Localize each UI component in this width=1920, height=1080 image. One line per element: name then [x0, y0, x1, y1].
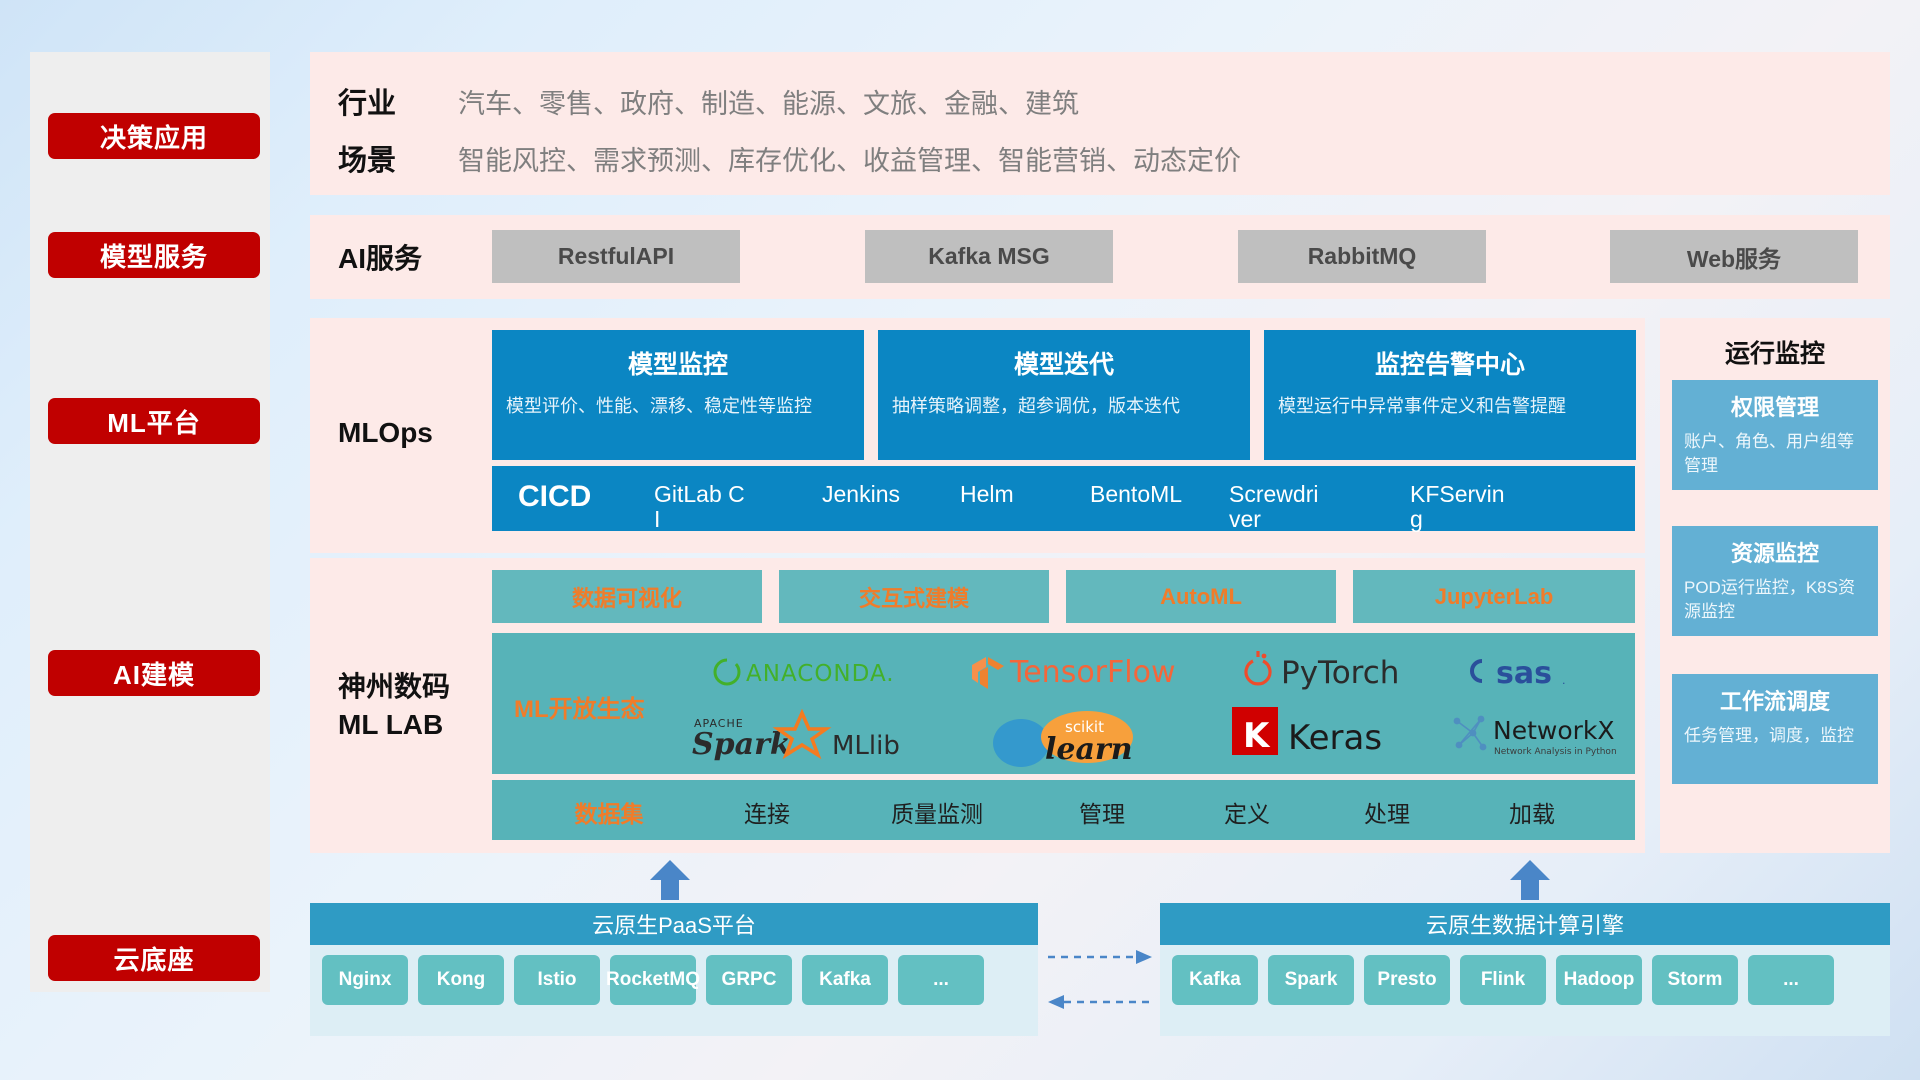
arrow-right-dashed: [1048, 950, 1152, 964]
compute-chip-presto[interactable]: Presto: [1364, 955, 1450, 1005]
ai-modeling-band: 神州数码 ML LAB 数据可视化 交互式建模 AutoML JupyterLa…: [310, 558, 1645, 853]
svg-text:K: K: [1243, 716, 1271, 756]
card-desc: 模型评价、性能、漂移、稳定性等监控: [506, 393, 850, 419]
mllab-label-line2: ML LAB: [338, 708, 443, 742]
cicd-item-kfserving[interactable]: KFServing: [1410, 482, 1505, 533]
svg-text:sas: sas: [1496, 656, 1552, 691]
scenario-values: 智能风控、需求预测、库存优化、收益管理、智能营销、动态定价: [458, 139, 1241, 178]
cicd-item-helm[interactable]: Helm: [960, 482, 1055, 507]
svg-text:Keras: Keras: [1288, 718, 1382, 758]
rail-item-ai-modeling[interactable]: AI建模: [48, 650, 260, 696]
card-desc: POD运行监控，K8S资源监控: [1684, 576, 1866, 624]
mlops-label: MLOps: [338, 413, 433, 453]
tensorflow-logo: TensorFlow: [962, 649, 1222, 698]
monitor-card-resource[interactable]: 资源监控 POD运行监控，K8S资源监控: [1672, 526, 1878, 636]
compute-chip-hadoop[interactable]: Hadoop: [1556, 955, 1642, 1005]
compute-chip-storm[interactable]: Storm: [1652, 955, 1738, 1005]
svg-text:learn: learn: [1045, 732, 1133, 767]
mlops-card-model-monitor[interactable]: 模型监控 模型评价、性能、漂移、稳定性等监控: [492, 330, 864, 460]
tab-automl[interactable]: AutoML: [1066, 570, 1336, 623]
paas-chip-rocketmq[interactable]: RocketMQ: [610, 955, 696, 1005]
mlops-card-model-iteration[interactable]: 模型迭代 抽样策略调整，超参调优，版本迭代: [878, 330, 1250, 460]
svg-text:.: .: [1562, 674, 1566, 687]
paas-chip-kafka[interactable]: Kafka: [802, 955, 888, 1005]
card-title: 资源监控: [1672, 536, 1878, 568]
runtime-monitor-title: 运行监控: [1660, 334, 1890, 370]
data-item-load[interactable]: 加载: [1467, 795, 1597, 829]
tab-interactive-modeling[interactable]: 交互式建模: [779, 570, 1049, 623]
cicd-bar: CICD GitLab CI Jenkins Helm BentoML Scre…: [492, 466, 1635, 531]
rail-item-decision-app[interactable]: 决策应用: [48, 113, 260, 159]
ml-ecosystem-box: ML开放生态 ANACONDA. TensorFlow: [492, 633, 1635, 774]
spark-mllib-logo: APACHE Spark MLlib: [692, 709, 942, 770]
monitor-card-permission[interactable]: 权限管理 账户、角色、用户组等管理: [1672, 380, 1878, 490]
svg-text:NetworkX: NetworkX: [1493, 716, 1615, 745]
card-desc: 账户、角色、用户组等管理: [1684, 430, 1866, 478]
svg-text:MLlib: MLlib: [832, 731, 900, 761]
compute-engine-box: 云原生数据计算引擎 Kafka Spark Presto Flink Hadoo…: [1160, 903, 1890, 1036]
anaconda-logo: ANACONDA.: [710, 655, 920, 694]
ai-service-band: AI服务 RestfulAPI Kafka MSG RabbitMQ Web服务: [310, 215, 1890, 299]
mlops-card-alert-center[interactable]: 监控告警中心 模型运行中异常事件定义和告警提醒: [1264, 330, 1636, 460]
industry-scenario-band: 行业 汽车、零售、政府、制造、能源、文旅、金融、建筑 场景 智能风控、需求预测、…: [310, 52, 1890, 195]
data-item-connect[interactable]: 连接: [702, 795, 832, 829]
data-item-dataset[interactable]: 数据集: [544, 795, 674, 829]
compute-chip-kafka[interactable]: Kafka: [1172, 955, 1258, 1005]
cicd-title: CICD: [518, 480, 591, 514]
data-item-define[interactable]: 定义: [1182, 795, 1312, 829]
paas-chip-grpc[interactable]: GRPC: [706, 955, 792, 1005]
svg-text:Spark: Spark: [692, 727, 791, 762]
pytorch-logo: PyTorch: [1237, 649, 1452, 698]
tab-jupyterlab[interactable]: JupyterLab: [1353, 570, 1635, 623]
mlops-band: MLOps 模型监控 模型评价、性能、漂移、稳定性等监控 模型迭代 抽样策略调整…: [310, 318, 1645, 553]
compute-chip-flink[interactable]: Flink: [1460, 955, 1546, 1005]
sas-logo: sas .: [1462, 651, 1622, 696]
mllab-label-line1: 神州数码: [338, 668, 450, 702]
data-item-quality[interactable]: 质量监测: [862, 795, 1012, 829]
ai-chip-restfulapi[interactable]: RestfulAPI: [492, 230, 740, 283]
card-title: 监控告警中心: [1264, 345, 1636, 381]
tab-data-visualization[interactable]: 数据可视化: [492, 570, 762, 623]
arrow-left-dashed: [1048, 995, 1152, 1009]
arrow-up-paas: [648, 860, 692, 900]
paas-chip-nginx[interactable]: Nginx: [322, 955, 408, 1005]
paas-chip-istio[interactable]: Istio: [514, 955, 600, 1005]
ml-ecosystem-label: ML开放生态: [514, 689, 645, 724]
svg-text:ANACONDA.: ANACONDA.: [746, 661, 895, 687]
paas-header: 云原生PaaS平台: [310, 903, 1038, 945]
card-title: 权限管理: [1672, 390, 1878, 422]
compute-header: 云原生数据计算引擎: [1160, 903, 1890, 945]
card-desc: 任务管理，调度，监控: [1684, 724, 1866, 748]
rail-item-model-service[interactable]: 模型服务: [48, 232, 260, 278]
industry-row: 行业 汽车、零售、政府、制造、能源、文旅、金融、建筑: [338, 80, 1079, 122]
svg-text:TensorFlow: TensorFlow: [1009, 655, 1176, 690]
industry-label: 行业: [338, 80, 458, 122]
rail-item-cloud-base[interactable]: 云底座: [48, 935, 260, 981]
cicd-item-bentoml[interactable]: BentoML: [1090, 482, 1185, 507]
compute-chip-spark[interactable]: Spark: [1268, 955, 1354, 1005]
card-title: 模型监控: [492, 345, 864, 381]
dataset-bar: 数据集 连接 质量监测 管理 定义 处理 加载: [492, 780, 1635, 840]
card-desc: 模型运行中异常事件定义和告警提醒: [1278, 393, 1622, 419]
networkx-logo: NetworkX Network Analysis in Python: [1447, 711, 1637, 770]
paas-platform-box: 云原生PaaS平台 Nginx Kong Istio RocketMQ GRPC…: [310, 903, 1038, 1036]
ai-chip-rabbitmq[interactable]: RabbitMQ: [1238, 230, 1486, 283]
scenario-row: 场景 智能风控、需求预测、库存优化、收益管理、智能营销、动态定价: [338, 137, 1241, 179]
keras-logo: K Keras: [1232, 705, 1442, 766]
data-item-manage[interactable]: 管理: [1037, 795, 1167, 829]
paas-chip-more[interactable]: ...: [898, 955, 984, 1005]
left-rail: [30, 52, 270, 992]
scikit-learn-logo: scikit learn: [987, 707, 1187, 772]
svg-text:Network Analysis in Python: Network Analysis in Python: [1494, 747, 1617, 757]
card-desc: 抽样策略调整，超参调优，版本迭代: [892, 393, 1236, 419]
rail-item-ml-platform[interactable]: ML平台: [48, 398, 260, 444]
ai-chip-web-service[interactable]: Web服务: [1610, 230, 1858, 283]
card-title: 工作流调度: [1672, 684, 1878, 716]
ai-chip-kafka-msg[interactable]: Kafka MSG: [865, 230, 1113, 283]
ai-service-label: AI服务: [338, 237, 422, 277]
cicd-item-gitlab-ci[interactable]: GitLab CI: [654, 482, 749, 533]
svg-text:PyTorch: PyTorch: [1281, 655, 1399, 691]
cicd-item-jenkins[interactable]: Jenkins: [822, 482, 917, 507]
runtime-monitor-panel: 运行监控 权限管理 账户、角色、用户组等管理 资源监控 POD运行监控，K8S资…: [1660, 318, 1890, 853]
monitor-card-workflow[interactable]: 工作流调度 任务管理，调度，监控: [1672, 674, 1878, 784]
paas-chip-kong[interactable]: Kong: [418, 955, 504, 1005]
compute-chip-more[interactable]: ...: [1748, 955, 1834, 1005]
industry-values: 汽车、零售、政府、制造、能源、文旅、金融、建筑: [458, 82, 1079, 121]
architecture-diagram: 决策应用 模型服务 ML平台 AI建模 云底座 行业 汽车、零售、政府、制造、能…: [0, 0, 1920, 1080]
card-title: 模型迭代: [878, 345, 1250, 381]
cicd-item-screwdriver[interactable]: Screwdriver: [1229, 482, 1324, 533]
scenario-label: 场景: [338, 137, 458, 179]
data-item-process[interactable]: 处理: [1322, 795, 1452, 829]
arrow-up-compute: [1508, 860, 1552, 900]
